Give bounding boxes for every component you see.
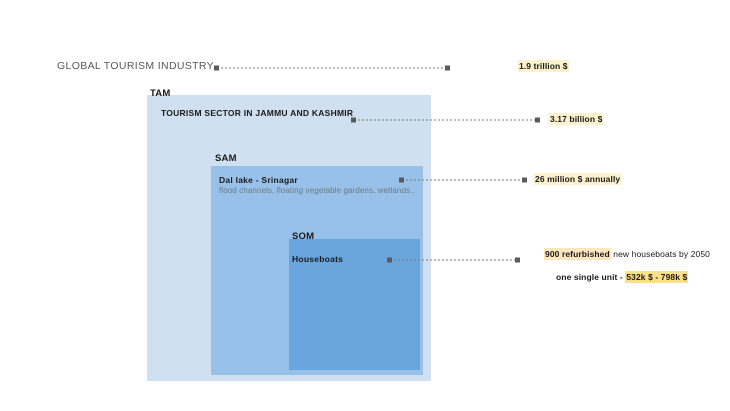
annotation-global-value: 1.9 trillion $ (518, 61, 569, 71)
connector-arrow-global (213, 62, 451, 74)
annotation-som-value-line1: 900 refurbished new houseboats by 2050 (544, 249, 710, 259)
annotation-sam-value-text: 26 million $ annually (534, 173, 621, 185)
sam-tier-label: SAM (215, 153, 237, 164)
annotation-som-unit-prefix: one single unit - (556, 272, 625, 282)
annotation-som-line1-tail: new houseboats by 2050 (613, 249, 710, 259)
annotation-tam-value: 3.17 billion $ (549, 114, 603, 124)
annotation-tam-value-text: 3.17 billion $ (549, 113, 603, 125)
annotation-som-unit-price-range: 532k $ - 798k $ (625, 271, 688, 283)
annotation-som-refurbished-count: 900 refurbished (544, 248, 611, 260)
tam-tier-label: TAM (150, 88, 170, 99)
global-tourism-industry-title: GLOBAL TOURISM INDUSTRY (57, 60, 214, 72)
annotation-global-value-text: 1.9 trillion $ (518, 60, 569, 72)
annotation-sam-value: 26 million $ annually (534, 174, 621, 184)
sam-box-subtext: flood channels, floating vegetable garde… (219, 186, 415, 195)
sam-box-heading: Dal lake - Srinagar (219, 175, 298, 185)
annotation-som-value-line2: one single unit - 532k $ - 798k $ (556, 272, 688, 282)
tam-box-heading: TOURISM SECTOR IN JAMMU AND KASHMIR (161, 108, 353, 118)
som-box-heading: Houseboats (292, 254, 343, 264)
som-tier-label: SOM (292, 231, 314, 242)
diagram-canvas: GLOBAL TOURISM INDUSTRY TAM SAM SOM TOUR… (0, 0, 730, 411)
